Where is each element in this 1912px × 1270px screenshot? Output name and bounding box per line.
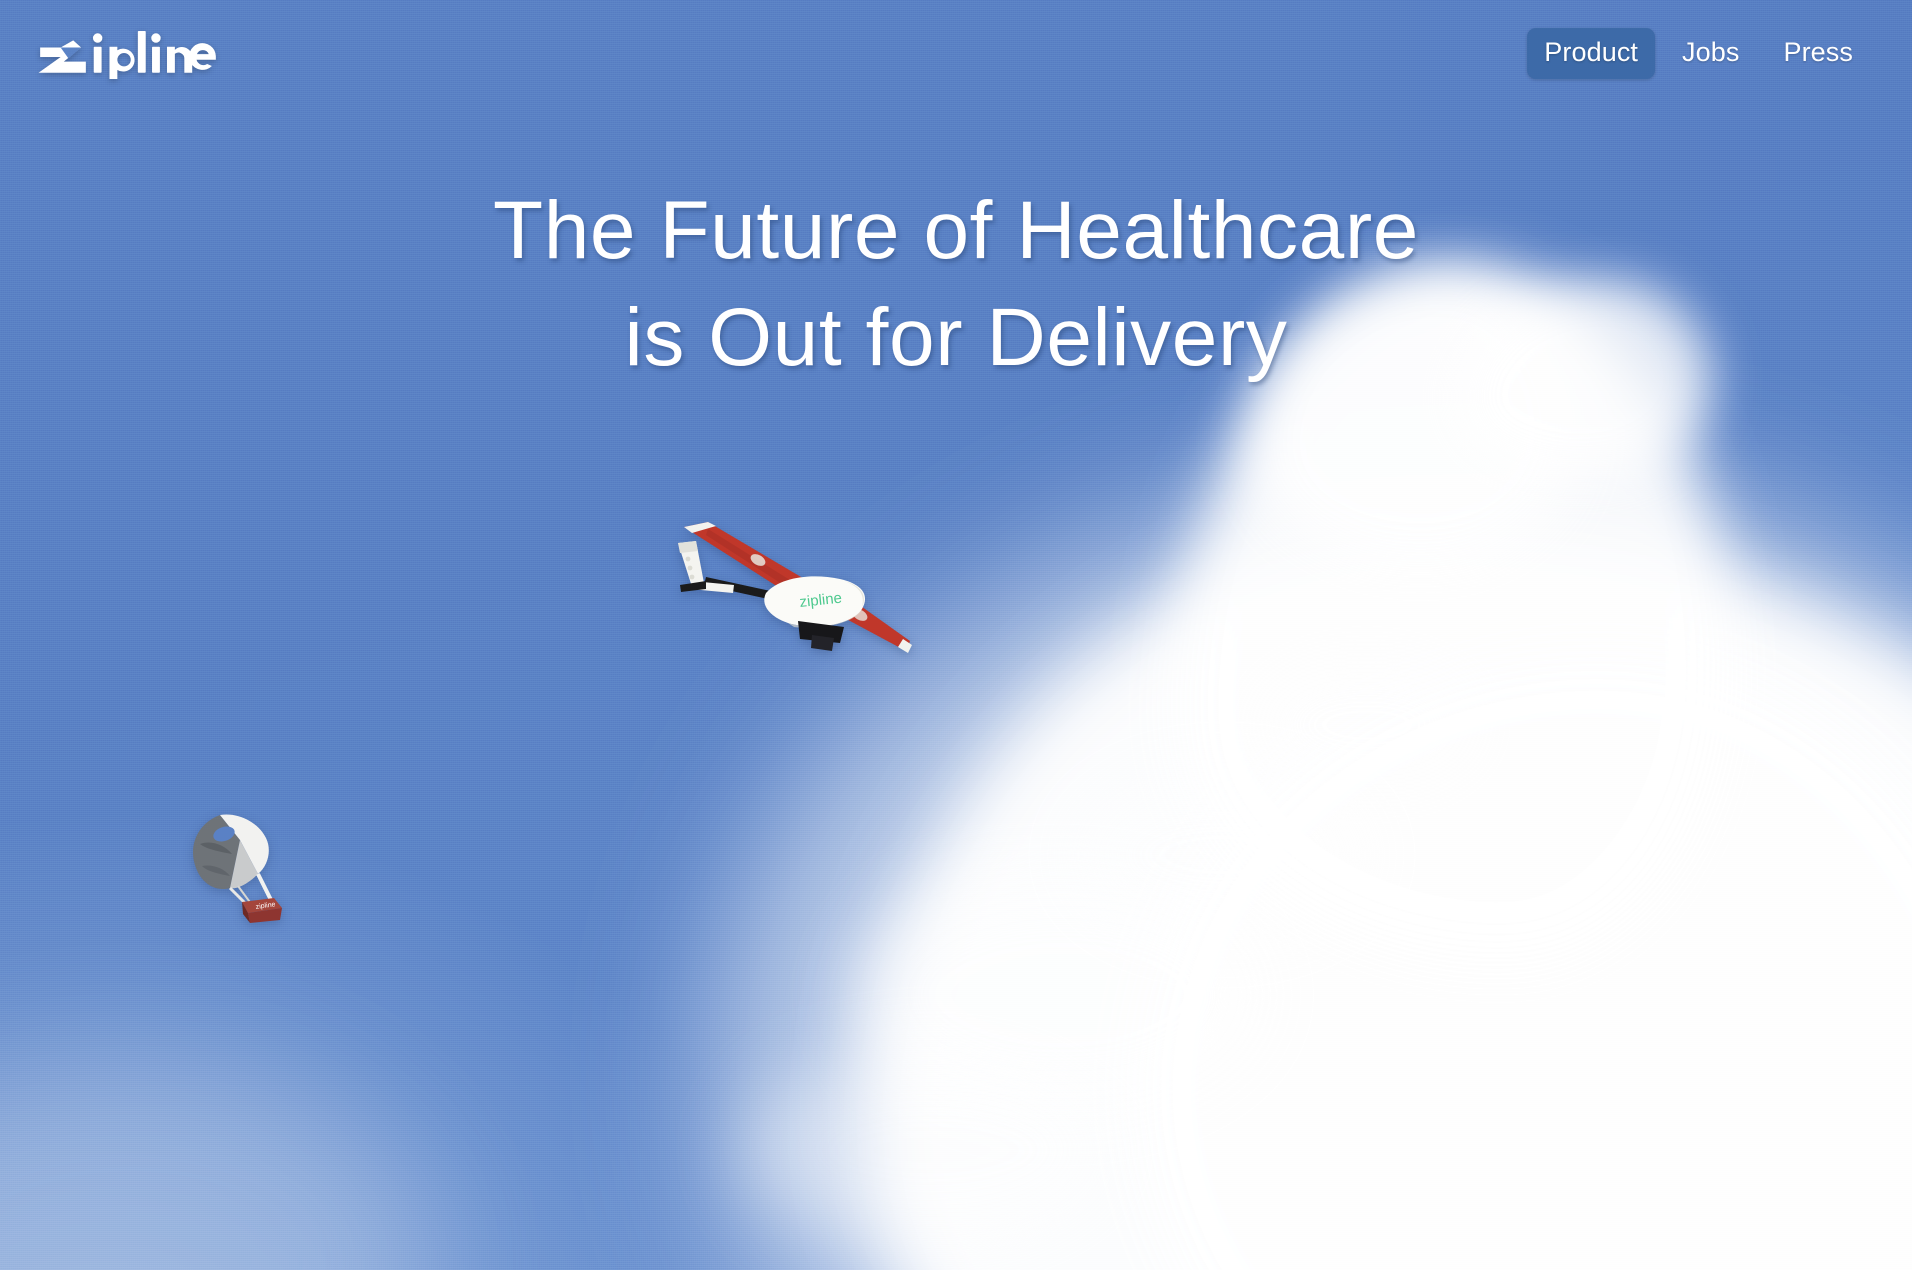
parachute-package-icon: zipline bbox=[186, 810, 296, 925]
sky-background bbox=[0, 0, 1912, 1270]
hero-page: Product Jobs Press The Future of Healthc… bbox=[0, 0, 1912, 1270]
nav-item-press[interactable]: Press bbox=[1766, 28, 1870, 79]
delivery-drone-icon: zipline bbox=[648, 515, 916, 660]
nav-item-jobs[interactable]: Jobs bbox=[1665, 28, 1756, 79]
site-header: Product Jobs Press bbox=[0, 0, 1912, 106]
nav-item-product[interactable]: Product bbox=[1527, 28, 1655, 79]
zipline-logo[interactable] bbox=[37, 27, 220, 79]
main-navigation: Product Jobs Press bbox=[1527, 28, 1870, 79]
